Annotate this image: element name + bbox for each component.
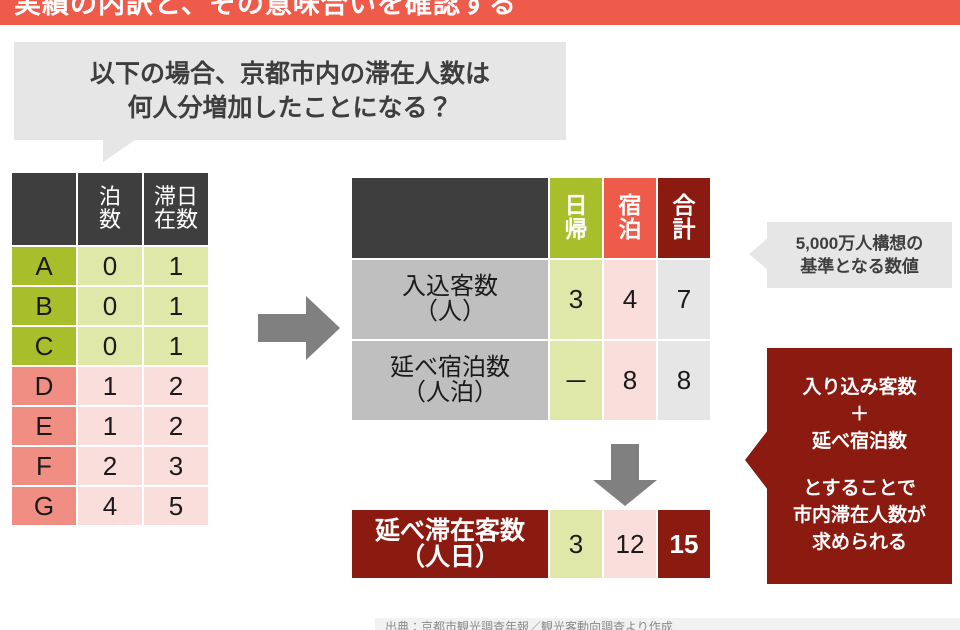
row-label-b: B bbox=[12, 287, 76, 325]
row-label-visitors-line2: （人） bbox=[414, 300, 486, 325]
left-header-stay-char-3: 滞 bbox=[154, 186, 176, 209]
question-line-1: 以下の場合、京都市内の滞在人数は bbox=[90, 58, 490, 90]
arrow-right-icon bbox=[258, 296, 340, 360]
red-note-formula-line-1: 入り込み客数 bbox=[802, 375, 916, 402]
table-row: F 2 3 bbox=[12, 447, 208, 485]
row-staydays-d: 2 bbox=[144, 367, 208, 405]
aggregate-table: 日 帰 宿 泊 合 計 bbox=[350, 176, 712, 422]
gray-note-line-1: 5,000万人構想の bbox=[796, 232, 924, 255]
aggregate-header-blank bbox=[352, 178, 548, 258]
aggregate-header-overnight: 宿 泊 bbox=[604, 178, 656, 258]
table-row: D 1 2 bbox=[12, 367, 208, 405]
result-overnight: 12 bbox=[604, 510, 656, 578]
row-label-e: E bbox=[12, 407, 76, 445]
row-nights-g: 4 bbox=[78, 487, 142, 525]
red-note-conclusion-line-1: とすることで bbox=[803, 476, 916, 503]
row-staydays-e: 2 bbox=[144, 407, 208, 445]
slide-canvas: 実績の内訳と、その意味合いを確認する 以下の場合、京都市内の滞在人数は 何人分増… bbox=[0, 0, 960, 630]
aggregate-header-row: 日 帰 宿 泊 合 計 bbox=[352, 178, 710, 258]
left-header-nights-char-2: 数 bbox=[99, 209, 121, 232]
visitors-total: 7 bbox=[658, 260, 710, 339]
left-header-stay-char-4: 在 bbox=[154, 209, 176, 232]
question-line-2: 何人分増加したことになる？ bbox=[127, 92, 452, 124]
table-row: C 0 1 bbox=[12, 327, 208, 365]
left-header-stay-left-col: 滞 在 bbox=[154, 186, 176, 232]
total-char-2: 計 bbox=[673, 218, 696, 242]
result-row-label-line2: （人日） bbox=[400, 544, 500, 570]
visitors-overnight: 4 bbox=[604, 260, 656, 339]
row-staydays-c: 1 bbox=[144, 327, 208, 365]
left-header-blank bbox=[12, 173, 76, 245]
left-table-header-row: 泊 数 日 数 滞 在 bbox=[12, 173, 208, 245]
row-staydays-a: 1 bbox=[144, 247, 208, 285]
overnight-char-1: 宿 bbox=[619, 194, 642, 218]
slide-title: 実績の内訳と、その意味合いを確認する bbox=[14, 0, 517, 21]
table-row: B 0 1 bbox=[12, 287, 208, 325]
row-nights-d: 1 bbox=[78, 367, 142, 405]
table-row: 入込客数 （人） 3 4 7 bbox=[352, 260, 710, 339]
result-total: 15 bbox=[658, 510, 710, 578]
nights-overnight: 8 bbox=[604, 341, 656, 420]
table-row: A 0 1 bbox=[12, 247, 208, 285]
row-nights-c: 0 bbox=[78, 327, 142, 365]
total-char-1: 合 bbox=[673, 194, 696, 218]
left-header-stay-right-col: 日 数 bbox=[176, 186, 198, 232]
nights-total: 8 bbox=[658, 341, 710, 420]
row-label-nights-line1: 延べ宿泊数 bbox=[390, 356, 510, 381]
red-note: 入り込み客数 ＋ 延べ宿泊数 とすることで 市内滞在人数が 求められる bbox=[767, 348, 952, 584]
gray-note: 5,000万人構想の 基準となる数値 bbox=[767, 222, 952, 288]
row-nights-e: 1 bbox=[78, 407, 142, 445]
red-note-formula-line-2: 延べ宿泊数 bbox=[812, 429, 907, 456]
row-label-nights: 延べ宿泊数 （人泊） bbox=[352, 341, 548, 420]
aggregate-header-day-trip: 日 帰 bbox=[550, 178, 602, 258]
gray-note-line-2: 基準となる数値 bbox=[800, 255, 919, 278]
row-label-f: F bbox=[12, 447, 76, 485]
result-day-trip: 3 bbox=[550, 510, 602, 578]
row-nights-f: 2 bbox=[78, 447, 142, 485]
arrow-down-icon bbox=[593, 444, 657, 506]
question-callout-tail bbox=[103, 140, 245, 162]
row-staydays-b: 1 bbox=[144, 287, 208, 325]
table-row: E 1 2 bbox=[12, 407, 208, 445]
row-label-visitors: 入込客数 （人） bbox=[352, 260, 548, 339]
result-table: 延べ滞在客数 （人日） 3 12 15 bbox=[350, 508, 712, 580]
left-header-stay-char-1: 日 bbox=[176, 186, 198, 209]
row-label-a: A bbox=[12, 247, 76, 285]
red-note-conclusion-line-3: 求められる bbox=[812, 530, 907, 557]
day-trip-char-1: 日 bbox=[565, 194, 588, 218]
row-label-visitors-line1: 入込客数 bbox=[402, 275, 498, 300]
red-note-conclusion-line-2: 市内滞在人数が bbox=[793, 503, 926, 530]
source-note-strip: 出典：京都市観光調査年報／観光客動向調査より作成 bbox=[375, 618, 960, 630]
row-nights-b: 0 bbox=[78, 287, 142, 325]
aggregate-header-total: 合 計 bbox=[658, 178, 710, 258]
slide-title-bar: 実績の内訳と、その意味合いを確認する bbox=[0, 0, 960, 25]
row-label-d: D bbox=[12, 367, 76, 405]
nights-day-trip: － bbox=[550, 341, 602, 420]
left-header-stay-days: 日 数 滞 在 bbox=[144, 173, 208, 245]
question-callout: 以下の場合、京都市内の滞在人数は 何人分増加したことになる？ bbox=[14, 42, 566, 140]
row-label-g: G bbox=[12, 487, 76, 525]
row-label-nights-line2: （人泊） bbox=[402, 381, 498, 406]
red-note-tail bbox=[745, 430, 768, 490]
left-header-nights-char-1: 泊 bbox=[99, 186, 121, 209]
visitor-detail-table: 泊 数 日 数 滞 在 bbox=[10, 171, 210, 527]
source-note-text: 出典：京都市観光調査年報／観光客動向調査より作成 bbox=[375, 620, 673, 630]
row-staydays-f: 3 bbox=[144, 447, 208, 485]
result-row-label: 延べ滞在客数 （人日） bbox=[352, 510, 548, 578]
table-row: G 4 5 bbox=[12, 487, 208, 525]
red-note-formula-plus: ＋ bbox=[850, 402, 869, 429]
gray-note-tail bbox=[749, 238, 768, 270]
left-header-nights: 泊 数 bbox=[78, 173, 142, 245]
table-row: 延べ宿泊数 （人泊） － 8 8 bbox=[352, 341, 710, 420]
table-row: 延べ滞在客数 （人日） 3 12 15 bbox=[352, 510, 710, 578]
row-staydays-g: 5 bbox=[144, 487, 208, 525]
visitors-day-trip: 3 bbox=[550, 260, 602, 339]
result-row-label-line1: 延べ滞在客数 bbox=[375, 518, 525, 544]
overnight-char-2: 泊 bbox=[619, 218, 642, 242]
row-nights-a: 0 bbox=[78, 247, 142, 285]
row-label-c: C bbox=[12, 327, 76, 365]
day-trip-char-2: 帰 bbox=[565, 218, 588, 242]
left-header-stay-char-2: 数 bbox=[176, 209, 198, 232]
